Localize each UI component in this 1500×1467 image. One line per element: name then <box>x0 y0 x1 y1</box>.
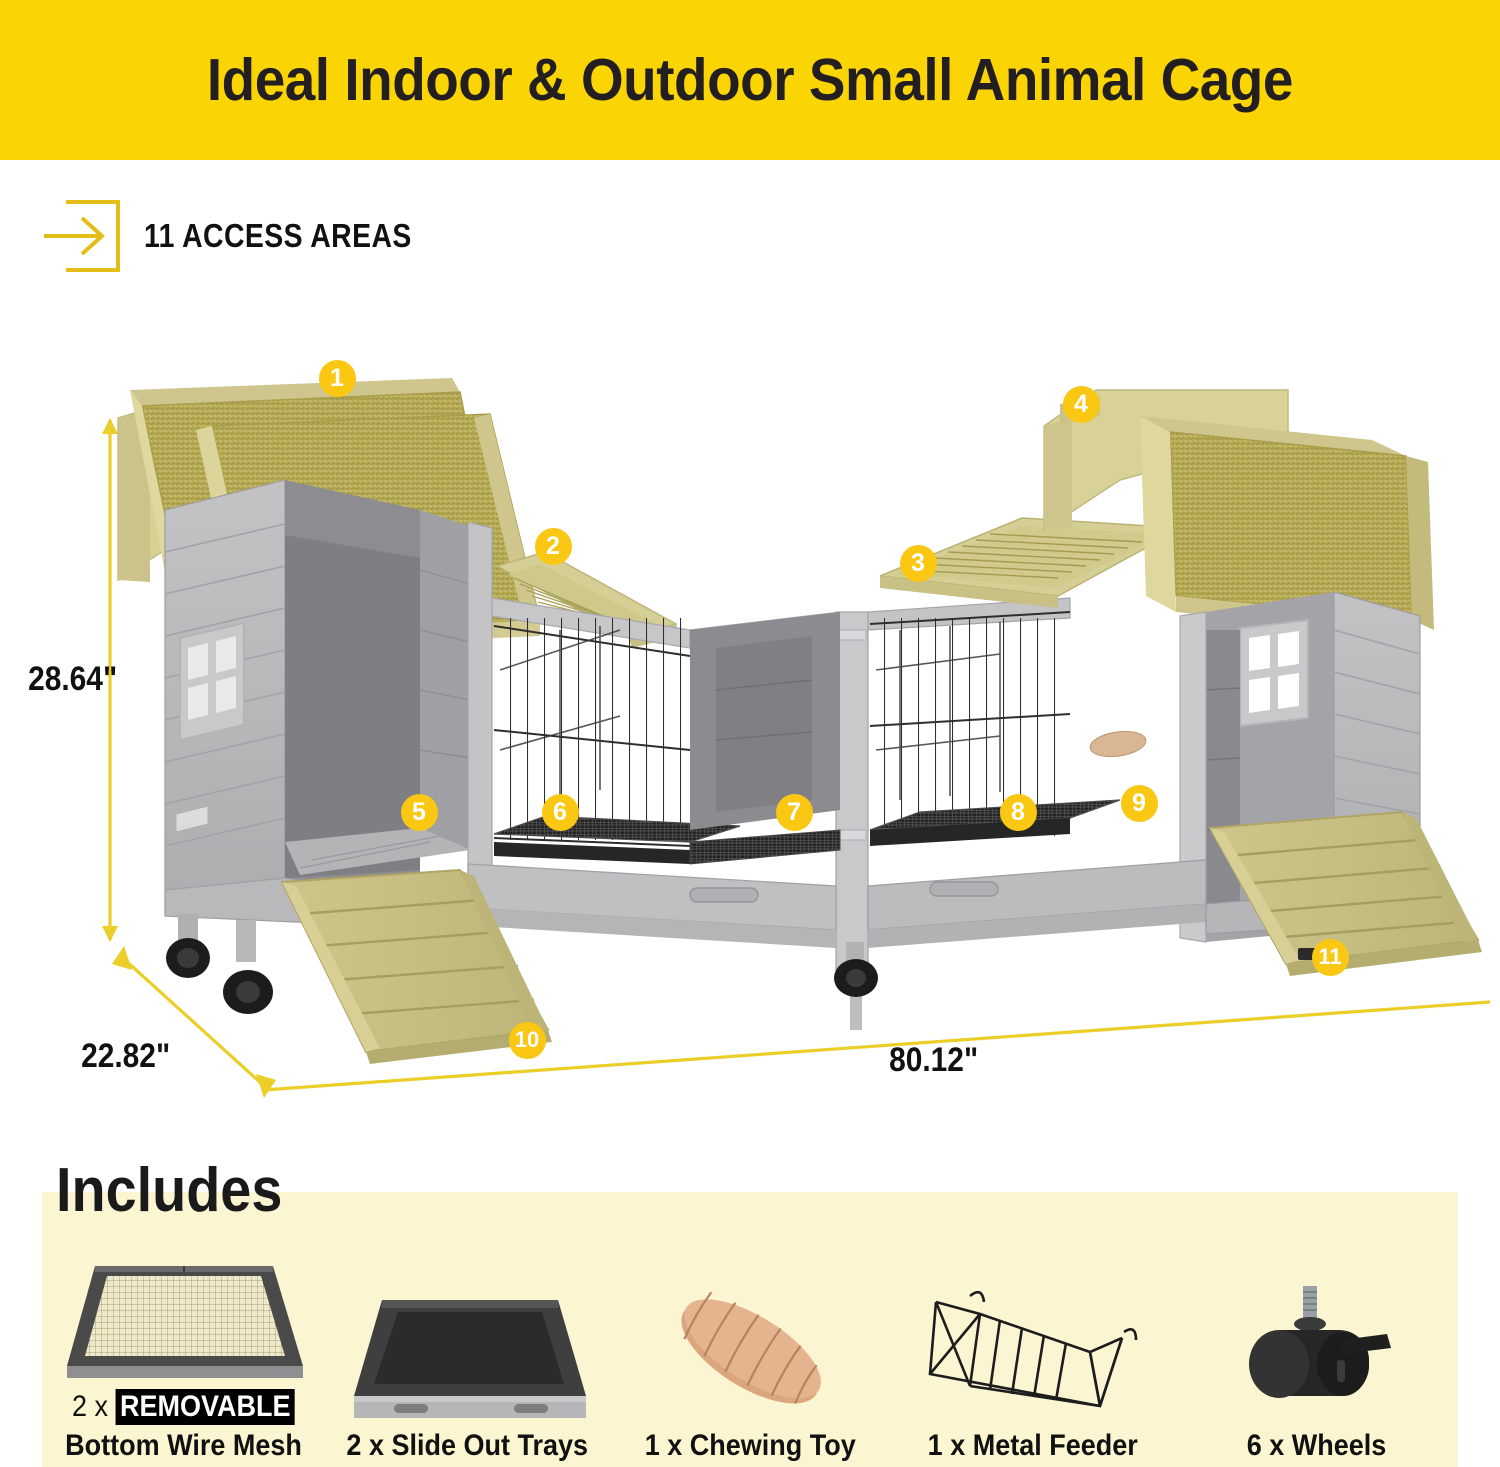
page-title: Ideal Indoor & Outdoor Small Animal Cage <box>207 46 1293 114</box>
right-house-window <box>1240 620 1308 726</box>
access-areas-feature: 11 ACCESS AREAS <box>44 198 455 274</box>
access-areas-label: 11 ACCESS AREAS <box>144 217 412 255</box>
dimension-width-label: 80.12" <box>889 1041 978 1080</box>
callout-badge-1[interactable]: 1 <box>319 360 356 397</box>
includes-highlight: REMOVABLE <box>116 1389 296 1426</box>
wire-mesh-tray-icon <box>59 1237 309 1389</box>
enter-arrow-icon <box>44 198 122 274</box>
caster-wheel <box>223 970 273 1014</box>
includes-caption: 2 x Slide Out Trays <box>346 1429 588 1463</box>
includes-caption: 2 x REMOVABLE Bottom Wire Mesh <box>65 1389 302 1463</box>
includes-caption: 6 x Wheels <box>1247 1429 1387 1463</box>
callout-badge-6[interactable]: 6 <box>542 794 579 831</box>
includes-label: 1 x Metal Feeder <box>928 1429 1138 1463</box>
callout-badge-3[interactable]: 3 <box>900 545 937 582</box>
callout-badge-9[interactable]: 9 <box>1121 785 1158 822</box>
callout-badge-8[interactable]: 8 <box>1000 794 1037 831</box>
left-house-window <box>180 623 244 740</box>
includes-heading: Includes <box>56 1155 282 1226</box>
includes-qty: 2 x <box>72 1390 108 1423</box>
includes-item: 2 x REMOVABLE Bottom Wire Mesh <box>42 1220 325 1467</box>
tray-handle-right <box>930 882 998 896</box>
dimension-height-label: 28.64" <box>28 660 117 699</box>
chewing-toy-icon <box>625 1277 875 1429</box>
includes-item: 1 x Metal Feeder <box>892 1220 1175 1467</box>
chew-toy-in-cage <box>1089 728 1148 760</box>
caster-wheel <box>166 938 210 978</box>
callout-badge-7[interactable]: 7 <box>776 794 813 831</box>
tray-handle-left <box>690 888 758 902</box>
title-banner: Ideal Indoor & Outdoor Small Animal Cage <box>0 0 1500 160</box>
caster-wheel-icon <box>1191 1277 1441 1429</box>
callout-badge-4[interactable]: 4 <box>1063 386 1100 423</box>
includes-label: Bottom Wire Mesh <box>65 1429 302 1463</box>
product-illustration: 1234567891011 <box>0 330 1500 1140</box>
includes-item: 2 x Slide Out Trays <box>325 1220 608 1467</box>
callout-badge-10[interactable]: 10 <box>509 1022 546 1059</box>
left-house-body <box>165 480 285 915</box>
center-back-wall <box>690 612 840 830</box>
includes-caption: 1 x Metal Feeder <box>928 1429 1138 1463</box>
includes-item: 6 x Wheels <box>1175 1220 1458 1467</box>
includes-label: 2 x Slide Out Trays <box>346 1429 588 1463</box>
includes-label: 6 x Wheels <box>1247 1429 1387 1463</box>
slide-out-tray-icon <box>342 1277 592 1429</box>
includes-item: 1 x Chewing Toy <box>608 1220 891 1467</box>
left-post <box>468 522 492 890</box>
includes-label: 1 x Chewing Toy <box>644 1429 855 1463</box>
callout-badge-5[interactable]: 5 <box>401 794 438 831</box>
caster-wheel <box>834 959 878 997</box>
callout-badge-11[interactable]: 11 <box>1312 939 1349 976</box>
includes-items: 2 x REMOVABLE Bottom Wire Mesh 2 x Slide… <box>42 1220 1458 1467</box>
includes-caption: 1 x Chewing Toy <box>644 1429 855 1463</box>
left-inner-chamber <box>285 480 470 890</box>
dimension-depth-label: 22.82" <box>81 1037 170 1076</box>
hutch-drawing <box>0 330 1500 1140</box>
metal-feeder-icon <box>908 1277 1158 1429</box>
callout-badge-2[interactable]: 2 <box>535 528 572 565</box>
